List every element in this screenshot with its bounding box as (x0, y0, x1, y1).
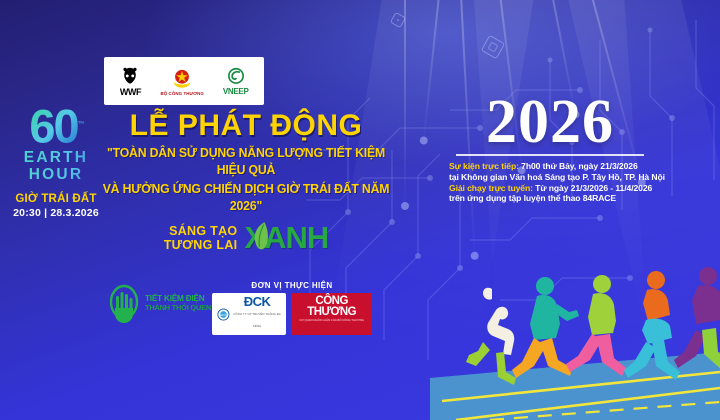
runner-lime (566, 275, 626, 376)
vneep-logo: VNEEP (223, 66, 249, 96)
runners-scene (430, 260, 720, 420)
headline-quote-line-2: VÀ HƯỞNG ỨNG CHIẾN DỊCH GIỜ TRÁI ĐẤT NĂM… (97, 181, 395, 214)
dck-seal-icon: ĐCK (217, 307, 230, 322)
year-number: 2026 (450, 92, 650, 152)
info-live-value: 7h00 thứ Bảy, ngày 21/3/2026 (519, 161, 638, 171)
bo-cong-thuong-label: BỘ CÔNG THƯƠNG (160, 91, 203, 96)
bo-cong-thuong-logo: BỘ CÔNG THƯƠNG (160, 67, 203, 96)
panda-icon (119, 66, 141, 88)
headline-title: LỄ PHÁT ĐỘNG (86, 110, 406, 142)
tiet-kiem-dien-line-1: TIẾT KIỆM ĐIỆN (145, 294, 211, 303)
info-race-key: Giải chạy trực tuyến: (449, 183, 533, 193)
slogan-highlight-xanh: XANH (244, 223, 328, 253)
dck-label: ĐCKCÔNG TY CP TRUYỀN THÔNG ĐA KÊNH (233, 296, 281, 332)
runner-cream (466, 288, 516, 385)
info-race-value: Từ ngày 21/3/2026 - 11/4/2026 (533, 183, 652, 193)
vneep-label: VNEEP (223, 88, 249, 96)
cong-thuong-logo: CÔNG THƯƠNG CƠ QUAN NGÔN LUẬN CỦA BỘ CÔN… (291, 293, 372, 335)
earth-hour-2026-poster: 60™ EARTH HOUR GIỜ TRÁI ĐẤT 20:30 | 28.3… (0, 0, 720, 420)
year-block: 2026 (450, 92, 650, 156)
info-live-key: Sự kiện trực tiếp: (449, 161, 519, 171)
dck-logo: ĐCK ĐCKCÔNG TY CP TRUYỀN THÔNG ĐA KÊNH (212, 293, 286, 335)
wwf-label: WWF (120, 88, 141, 97)
info-live-line: Sự kiện trực tiếp: 7h00 thứ Bảy, ngày 21… (449, 161, 684, 172)
tiet-kiem-dien-logo: TIẾT KIỆM ĐIỆN THÀNH THÓI QUEN (107, 283, 211, 323)
slogan-left-text: SÁNG TẠO TƯƠNG LAI (164, 224, 238, 252)
info-venue-line: tại Không gian Văn hoá Sáng tạo P. Tây H… (449, 172, 684, 183)
svg-text:ĐCK: ĐCK (220, 312, 226, 316)
tiet-kiem-dien-text: TIẾT KIỆM ĐIỆN THÀNH THÓI QUEN (145, 294, 211, 312)
organizers-logo-row: ĐCK ĐCKCÔNG TY CP TRUYỀN THÔNG ĐA KÊNH C… (212, 293, 372, 335)
trademark-mark: ™ (78, 121, 83, 128)
slogan-block: SÁNG TẠO TƯƠNG LAI XANH (86, 223, 406, 253)
vneep-swirl-icon (225, 66, 247, 88)
organizers-block: ĐƠN VỊ THỰC HIỆN ĐCK ĐCKCÔNG TY CP TRUYỀ… (212, 281, 372, 335)
organizers-caption: ĐƠN VỊ THỰC HIỆN (212, 281, 372, 290)
cong-thuong-label: CÔNG THƯƠNG (295, 296, 368, 318)
tiet-kiem-dien-line-2: THÀNH THÓI QUEN (145, 303, 211, 312)
slogan-line-1: SÁNG TẠO (164, 224, 238, 238)
runner-pink (678, 298, 710, 332)
cong-thuong-sub: CƠ QUAN NGÔN LUẬN CỦA BỘ CÔNG THƯƠNG (295, 319, 368, 322)
slogan-line-2: TƯƠNG LAI (164, 238, 238, 252)
wwf-logo: WWF (119, 66, 141, 97)
event-info-block: Sự kiện trực tiếp: 7h00 thứ Bảy, ngày 21… (449, 161, 684, 204)
dck-sub: CÔNG TY CP TRUYỀN THÔNG ĐA KÊNH (233, 308, 281, 332)
vietnam-emblem-icon (170, 67, 194, 90)
hand-bulb-icon (107, 283, 141, 323)
info-race-app-line: trên ứng dụng tập luyện thể thao 84RACE (449, 193, 684, 204)
partner-logo-strip: WWF BỘ CÔNG THƯƠNG VNEEP (104, 57, 264, 105)
headline-block: LỄ PHÁT ĐỘNG "TOÀN DÂN SỬ DỤNG NĂNG LƯỢN… (86, 110, 406, 253)
info-race-line: Giải chạy trực tuyến: Từ ngày 21/3/2026 … (449, 183, 684, 194)
headline-quote-line-1: "TOÀN DÂN SỬ DỤNG NĂNG LƯỢNG TIẾT KIỆM H… (97, 145, 395, 178)
